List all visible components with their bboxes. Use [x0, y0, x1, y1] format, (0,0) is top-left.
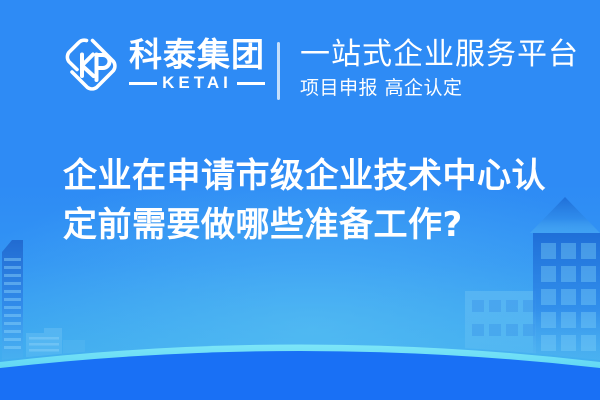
logo-rule-right-icon — [237, 82, 265, 85]
brand-logo[interactable]: 科泰集团 KETAI — [62, 36, 265, 94]
slogan-primary: 一站式企业服务平台 — [300, 38, 579, 72]
diamond-kp-monogram-icon — [62, 36, 120, 94]
logo-company-name-en: KETAI — [162, 74, 232, 92]
logo-company-name-en-row: KETAI — [129, 74, 265, 92]
vertical-divider-icon — [277, 42, 280, 100]
logo-company-name-cn: 科泰集团 — [129, 38, 265, 72]
curved-horizon-arc-icon — [0, 345, 600, 400]
page-title: 企业在申请市级企业技术中心认定前需要做哪些准备工作? — [63, 152, 568, 250]
banner-header: 科泰集团 KETAI 一站式企业服务平台 项目申报 高企认定 — [0, 0, 600, 120]
city-skyline-right-small-icon — [465, 291, 536, 360]
slogan-block: 一站式企业服务平台 项目申报 高企认定 — [300, 38, 579, 99]
city-skyline-left-icon — [2, 240, 85, 360]
promo-banner: 科泰集团 KETAI 一站式企业服务平台 项目申报 高企认定 企业在申请市级企业… — [0, 0, 600, 400]
logo-wordmark: 科泰集团 KETAI — [129, 38, 265, 92]
logo-rule-left-icon — [129, 82, 157, 85]
slogan-secondary: 项目申报 高企认定 — [300, 77, 579, 99]
